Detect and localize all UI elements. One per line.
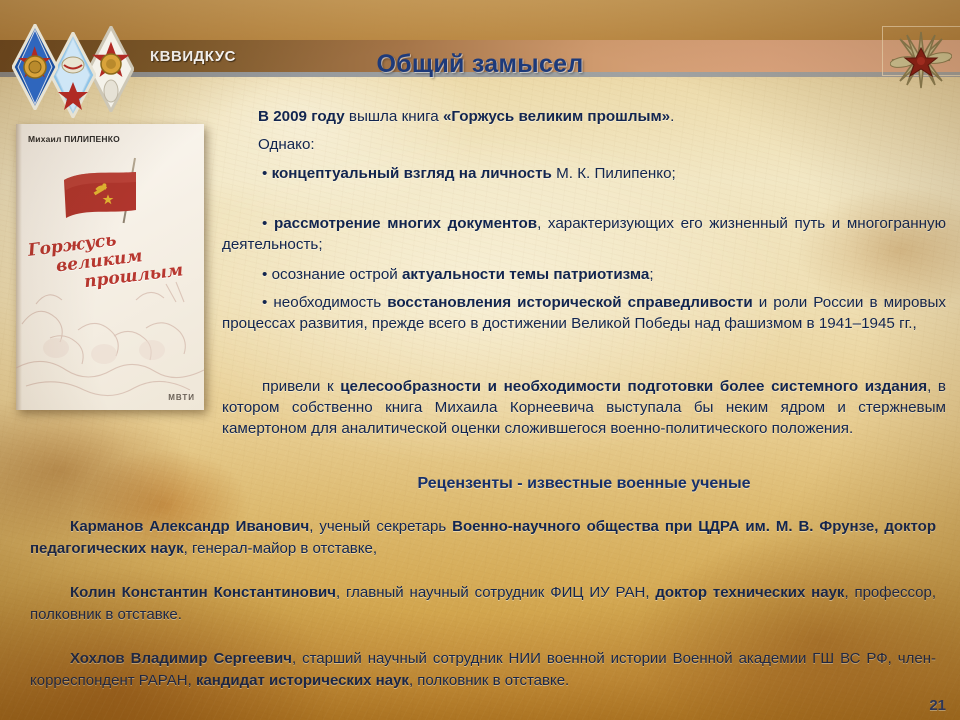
reviewer-1-plain-2: , генерал-майор в отставке, [184, 540, 377, 557]
bullet-marker-3: • [262, 266, 267, 283]
reviewer-1-name: Карманов Александр Иванович [70, 518, 309, 535]
bullet-marker-1: • [262, 165, 267, 182]
conclusion-plain-before: привели к [262, 378, 340, 395]
star-burst-order-icon [890, 30, 952, 90]
bullet-3-bold: актуальности темы патриотизма [402, 266, 649, 283]
reviewer-3-name: Хохлов Владимир Сергеевич [70, 650, 292, 667]
soviet-flag-icon [62, 170, 138, 222]
bullet-item-4: • необходимость восстановления историчес… [222, 292, 946, 334]
intro-bold-booktitle: «Горжусь великим прошлым» [443, 108, 670, 125]
reviewer-entry-1: Карманов Александр Иванович, ученый секр… [30, 516, 936, 560]
academy-badge-blue [12, 24, 58, 110]
slide-canvas: КВВИДКУС [0, 0, 960, 720]
reviewer-1-plain-1: , ученый секретарь [309, 518, 452, 535]
bullet-4-plain-before: необходимость [273, 294, 387, 311]
bullet-marker-2: • [262, 215, 267, 232]
bullet-1-bold: концептуальный взгляд на личность [272, 165, 552, 182]
intro-bold-year: В 2009 году [258, 108, 345, 125]
intro-plain-2: . [670, 108, 674, 125]
bullet-item-1: • концептуальный взгляд на личность М. К… [222, 163, 946, 184]
book-author-text: Михаил ПИЛИПЕНКО [28, 134, 120, 144]
paragraph-intro: В 2009 году вышла книга «Горжусь великим… [258, 106, 946, 127]
reviewer-2-name: Колин Константин Константинович [70, 584, 336, 601]
page-number: 21 [929, 697, 946, 714]
bullet-item-2: • рассмотрение многих документов, характ… [222, 213, 946, 255]
book-cover-image: Михаил ПИЛИПЕНКО Горжусь великим прошлым [16, 124, 204, 410]
conclusion-bold: целесообразности и необходимости подгото… [340, 378, 927, 395]
bullet-marker-4: • [262, 294, 267, 311]
page-title: Общий замысел [250, 50, 710, 79]
reviewers-heading: Рецензенты - известные военные ученые [222, 473, 946, 494]
bullet-1-plain: М. К. Пилипенко; [552, 165, 676, 182]
header-top-strip [0, 0, 960, 40]
intro-plain-1: вышла книга [345, 108, 443, 125]
publisher-logo: МВТИ [168, 393, 195, 402]
reviewer-2-plain-1: , главный научный сотрудник ФИЦ ИУ РАН, [336, 584, 655, 601]
bullet-item-3: • осознание острой актуальности темы пат… [222, 264, 946, 285]
bullet-3-plain-after: ; [649, 266, 653, 283]
book-cover-sketch-illustration [16, 274, 204, 410]
paragraph-conclusion: привели к целесообразности и необходимос… [222, 376, 946, 439]
reviewer-3-plain-2: , полковник в отставке. [409, 672, 569, 689]
bullet-4-bold: восстановления исторической справедливос… [387, 294, 752, 311]
academy-badges-group [10, 22, 140, 112]
book-author-label: Михаил ПИЛИПЕНКО [28, 134, 120, 144]
reviewer-2-bold-2: доктор технических наук [655, 584, 844, 601]
reviewer-entry-2: Колин Константин Константинович, главный… [30, 582, 936, 626]
paragraph-however: Однако: [258, 134, 946, 155]
reviewer-entry-3: Хохлов Владимир Сергеевич, старший научн… [30, 648, 936, 692]
bullet-2-bold: рассмотрение многих документов [274, 215, 537, 232]
bullet-3-plain-before: осознание острой [272, 266, 402, 283]
reviewer-3-bold-2: кандидат исторических наук [196, 672, 409, 689]
academy-badge-blue-icon [12, 24, 58, 110]
